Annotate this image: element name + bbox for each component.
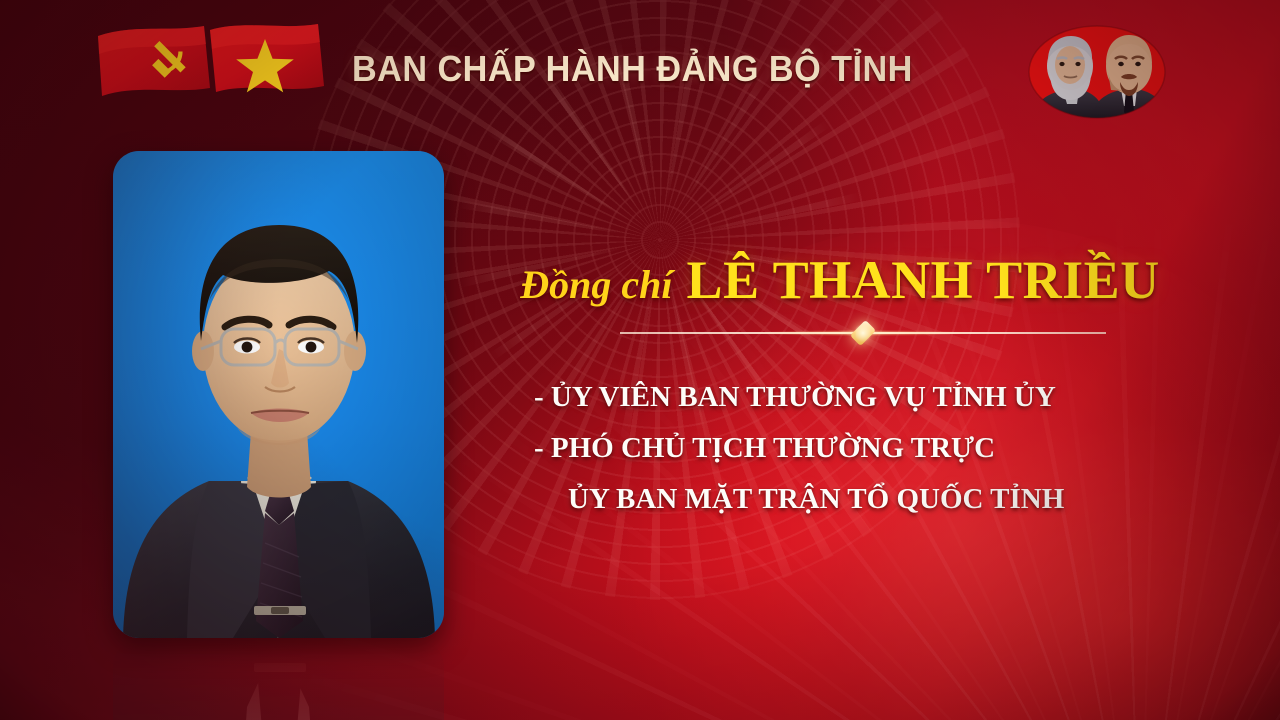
officer-name: LÊ THANH TRIỀU xyxy=(687,249,1160,311)
officer-name-line: Đồng chí LÊ THANH TRIỀU xyxy=(470,249,1210,311)
hammer-sickle-flag-icon xyxy=(98,26,210,96)
poster-canvas: BAN CHẤP HÀNH ĐẢNG BỘ TỈNH xyxy=(0,0,1280,720)
role-item: ỦY BAN MẶT TRẬN TỔ QUỐC TỈNH xyxy=(534,485,1214,514)
role-item: - PHÓ CHỦ TỊCH THƯỜNG TRỰC xyxy=(534,434,1214,463)
role-item: - ỦY VIÊN BAN THƯỜNG VỤ TỈNH ỦY xyxy=(534,383,1214,412)
divider-diamond-highlight xyxy=(856,322,871,344)
portrait-photo-reflection xyxy=(113,640,444,720)
name-prefix-label: Đồng chí xyxy=(520,261,672,308)
vietnam-flag-icon xyxy=(210,24,324,92)
flags-group xyxy=(92,22,342,114)
decorative-divider xyxy=(620,322,1106,344)
marx-lenin-badge xyxy=(1017,20,1177,124)
page-title: BAN CHẤP HÀNH ĐẢNG BỘ TỈNH xyxy=(352,48,913,90)
portrait-photo-frame xyxy=(113,151,444,638)
officer-roles-list: - ỦY VIÊN BAN THƯỜNG VỤ TỈNH ỦY - PHÓ CH… xyxy=(534,383,1214,514)
portrait-photo xyxy=(113,151,444,638)
